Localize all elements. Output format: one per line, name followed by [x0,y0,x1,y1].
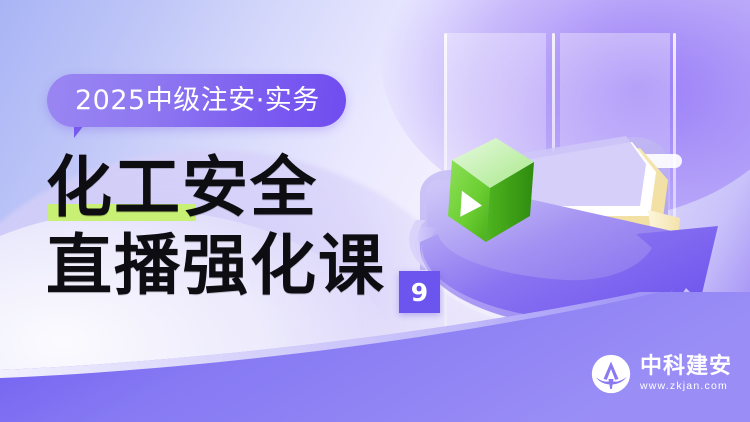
course-promo-banner: 2025中级注安·实务 化工安全 直播强化课 9 中科建安 www.zkjan.… [0,0,750,422]
logo-text-block: 中科建安 www.zkjan.com [640,355,732,394]
category-tag-label: 2025中级注安·实务 [75,87,320,114]
brand-logo[interactable]: 中科建安 www.zkjan.com [591,354,732,394]
category-tag[interactable]: 2025中级注安·实务 [47,74,346,127]
episode-badge: 9 [399,271,440,313]
headline-line-1: 化工安全 [46,154,318,220]
headline-line-2: 直播强化课 [46,232,386,298]
logo-website-url: www.zkjan.com [640,379,732,394]
headline-row-1: 化工安全 [46,148,476,226]
logo-brand-name: 中科建安 [640,355,732,379]
episode-number: 9 [411,280,428,305]
zkjan-circle-logo-icon [591,354,631,394]
